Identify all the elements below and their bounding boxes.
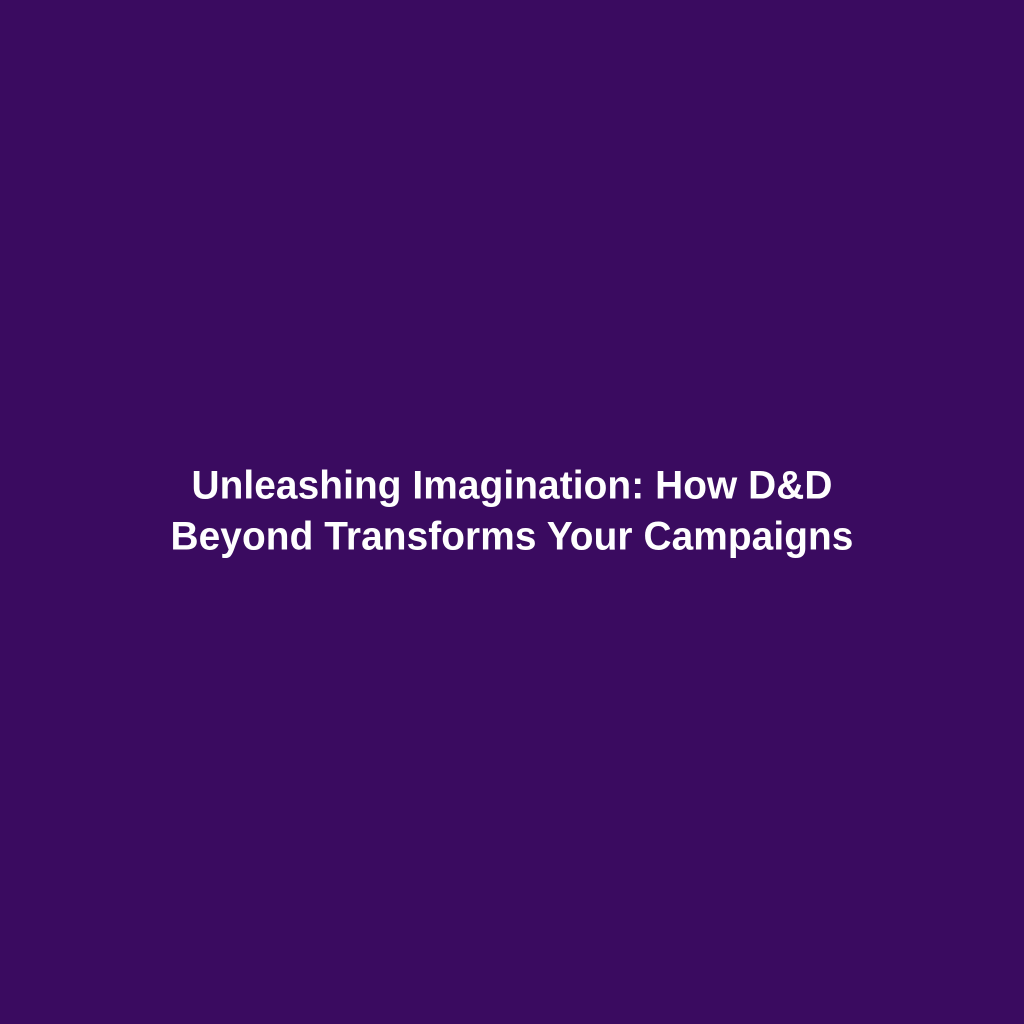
title-card: Unleashing Imagination: How D&D Beyond T… xyxy=(0,0,1024,1024)
page-title-line-2: Beyond Transforms Your Campaigns xyxy=(134,512,891,563)
page-title: Unleashing Imagination: How D&D Beyond T… xyxy=(122,461,902,563)
page-title-line-1: Unleashing Imagination: How D&D xyxy=(134,461,891,512)
